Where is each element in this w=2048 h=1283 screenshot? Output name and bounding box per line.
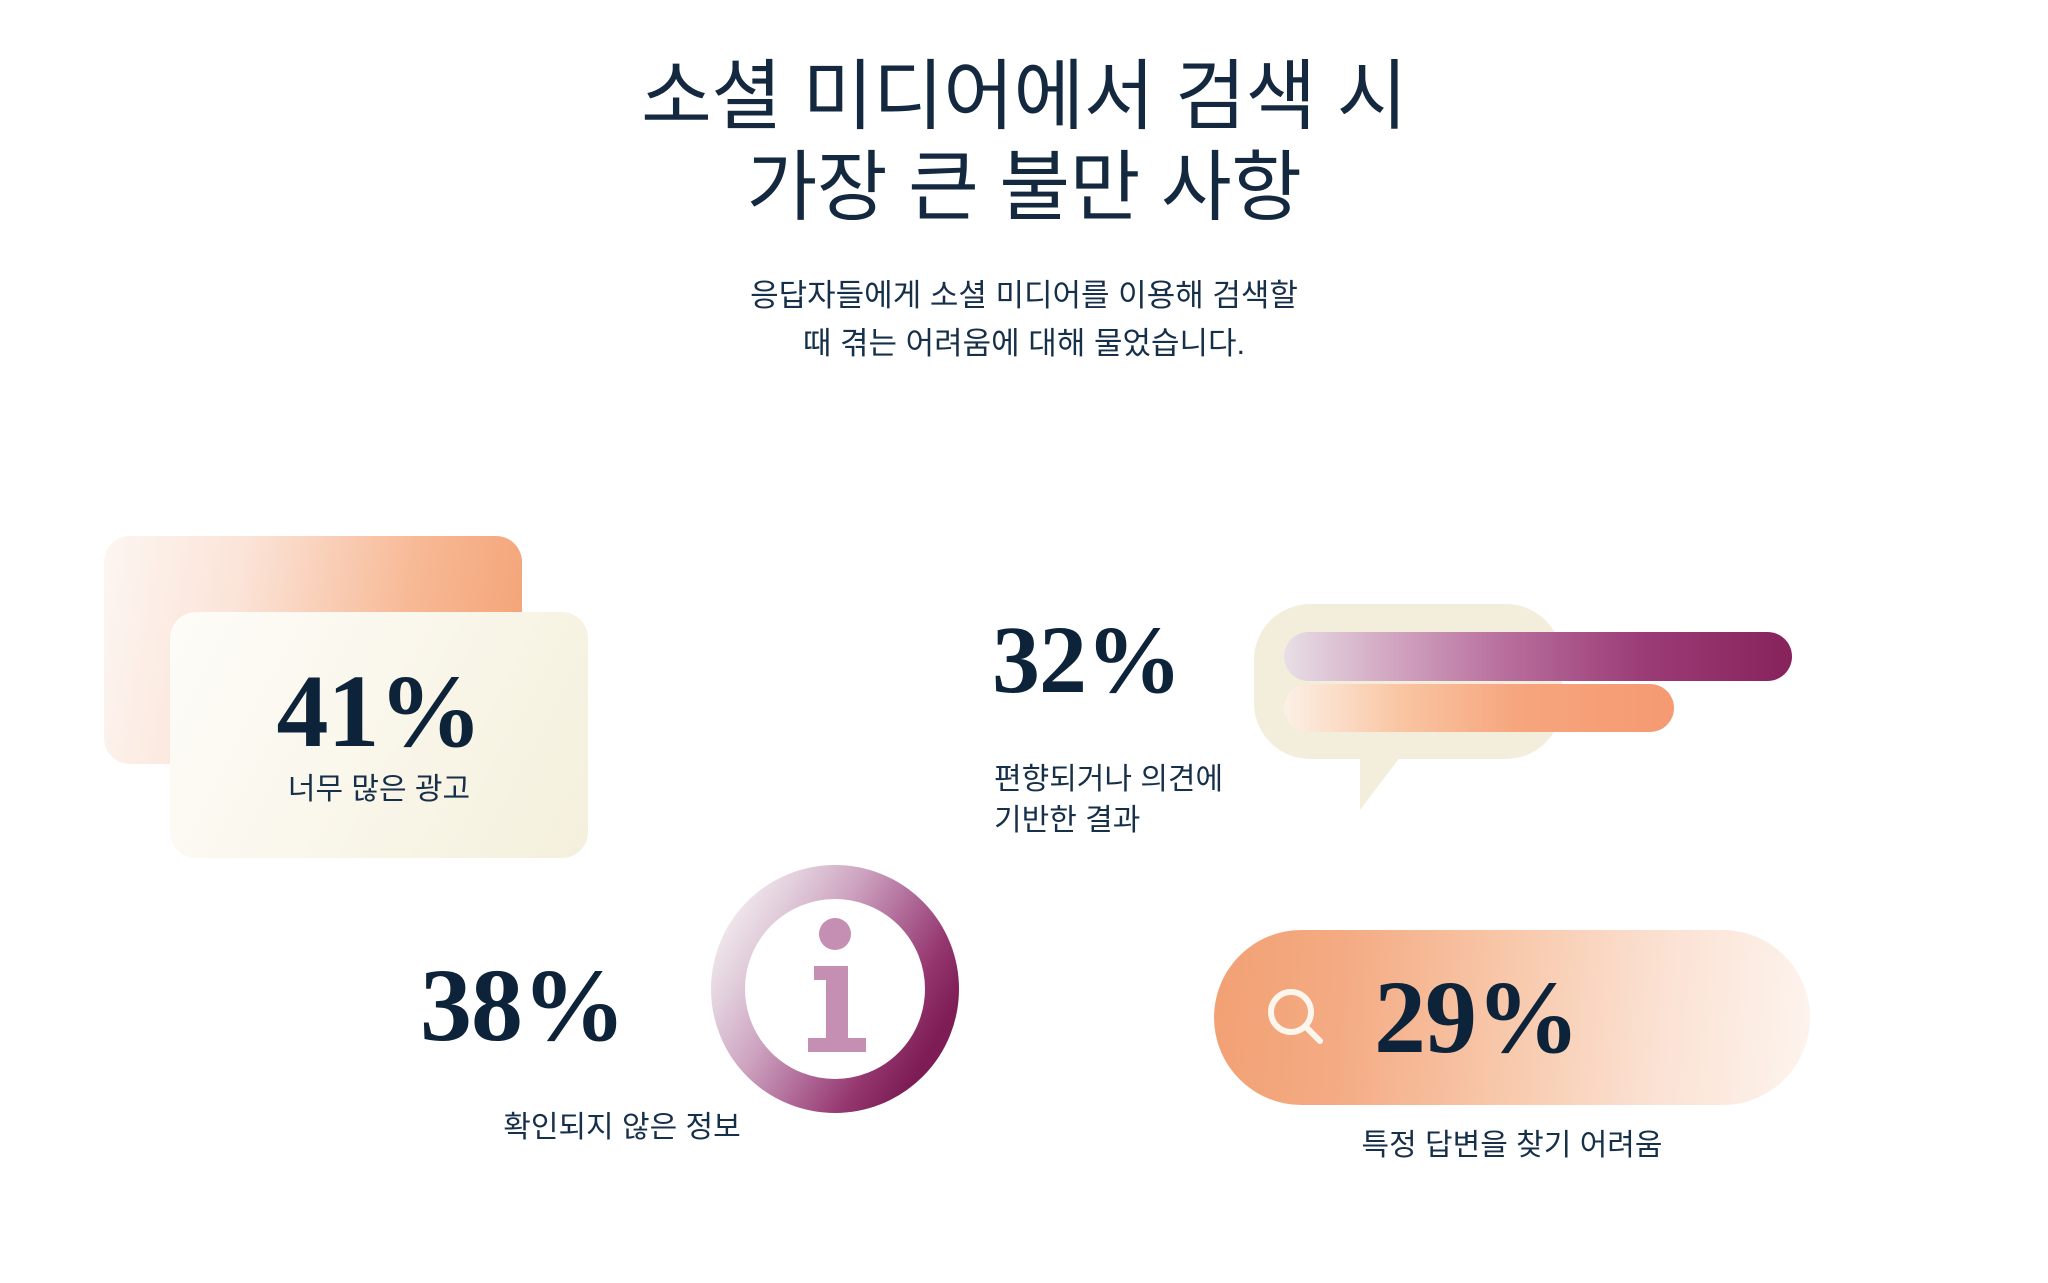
stat-label-29: 특정 답변을 찾기 어려움 — [1214, 1126, 1810, 1167]
stat-hard-to-find-answers: 29% 특정 답변을 찾기 어려움 — [1214, 930, 1854, 1190]
infographic-canvas: 소셜 미디어에서 검색 시 가장 큰 불만 사항 응답자들에게 소셜 미디어를 … — [0, 0, 2048, 1283]
stat-value-32: 32% — [992, 612, 1181, 708]
stat-biased-results: 32% 편향되거나 의견에 기반한 결과 — [992, 596, 1852, 876]
card-front: 41% 너무 많은 광고 — [170, 612, 588, 858]
speech-bubble-icon — [1254, 604, 1562, 759]
header: 소셜 미디어에서 검색 시 가장 큰 불만 사항 응답자들에게 소셜 미디어를 … — [0, 52, 2048, 368]
stat-unverified-info: 38% 확인되지 않은 정보 — [420, 862, 960, 1192]
stat-label-38: 확인되지 않은 정보 — [412, 1108, 832, 1149]
search-icon — [1262, 984, 1330, 1052]
stat-value-29: 29% — [1374, 966, 1579, 1070]
info-circle-icon — [708, 862, 962, 1116]
page-title: 소셜 미디어에서 검색 시 가장 큰 불만 사항 — [0, 52, 2048, 234]
search-pill: 29% — [1214, 930, 1810, 1105]
stat-value-38: 38% — [420, 954, 625, 1058]
bubble-bar-orange — [1284, 684, 1674, 732]
stat-value-41: 41% — [277, 660, 482, 764]
stat-label-41: 너무 많은 광고 — [288, 770, 470, 811]
speech-bubble-tail-icon — [1360, 752, 1404, 810]
stat-label-32: 편향되거나 의견에 기반한 결과 — [994, 760, 1223, 841]
bubble-bar-purple — [1284, 632, 1792, 681]
page-subtitle: 응답자들에게 소셜 미디어를 이용해 검색할 때 겪는 어려움에 대해 물었습니… — [0, 272, 2048, 368]
